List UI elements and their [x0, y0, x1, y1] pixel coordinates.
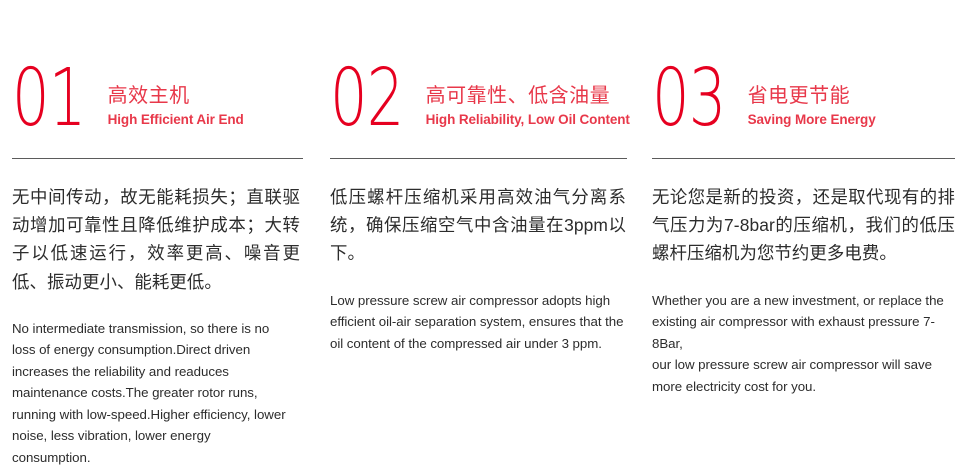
feature-divider-03 [652, 158, 955, 159]
feature-column-02: 02 高可靠性、低含油量 High Reliability, Low Oil C… [330, 62, 652, 468]
feature-body-cn-02: 低压螺杆压缩机采用高效油气分离系统，确保压缩空气中含油量在3ppm以下。 [330, 183, 626, 268]
feature-title-cn-03: 省电更节能 [748, 84, 876, 109]
feature-number-01: 01 [12, 60, 85, 137]
feature-header-01: 01 高效主机 High Efficient Air End [12, 62, 300, 146]
feature-number-02: 02 [330, 60, 403, 137]
feature-divider-01 [12, 158, 303, 159]
feature-titles-01: 高效主机 High Efficient Air End [108, 62, 244, 130]
feature-body-en-02: Low pressure screw air compressor adopts… [330, 290, 626, 355]
feature-divider-02 [330, 158, 627, 159]
feature-title-en-01: High Efficient Air End [108, 110, 244, 130]
feature-body-cn-01: 无中间传动，故无能耗损失；直联驱动增加可靠性且降低维护成本；大转子以低速运行，效… [12, 183, 300, 296]
feature-column-01: 01 高效主机 High Efficient Air End 无中间传动，故无能… [0, 62, 330, 468]
feature-column-03: 03 省电更节能 Saving More Energy 无论您是新的投资，还是取… [652, 62, 960, 468]
feature-body-cn-03: 无论您是新的投资，还是取代现有的排气压力为7-8bar的压缩机，我们的低压螺杆压… [652, 183, 955, 268]
feature-title-en-03: Saving More Energy [748, 110, 876, 130]
feature-columns: 01 高效主机 High Efficient Air End 无中间传动，故无能… [0, 0, 960, 468]
feature-number-03: 03 [652, 60, 725, 137]
feature-body-en-03: Whether you are a new investment, or rep… [652, 290, 952, 398]
feature-titles-03: 省电更节能 Saving More Energy [748, 62, 876, 130]
feature-header-02: 02 高可靠性、低含油量 High Reliability, Low Oil C… [330, 62, 626, 146]
feature-header-03: 03 省电更节能 Saving More Energy [652, 62, 955, 146]
feature-title-en-02: High Reliability, Low Oil Content [426, 110, 630, 130]
feature-body-en-01: No intermediate transmission, so there i… [12, 318, 292, 468]
feature-title-cn-02: 高可靠性、低含油量 [426, 84, 630, 109]
feature-board: 01 高效主机 High Efficient Air End 无中间传动，故无能… [0, 0, 960, 456]
feature-titles-02: 高可靠性、低含油量 High Reliability, Low Oil Cont… [426, 62, 630, 130]
feature-title-cn-01: 高效主机 [108, 84, 244, 109]
